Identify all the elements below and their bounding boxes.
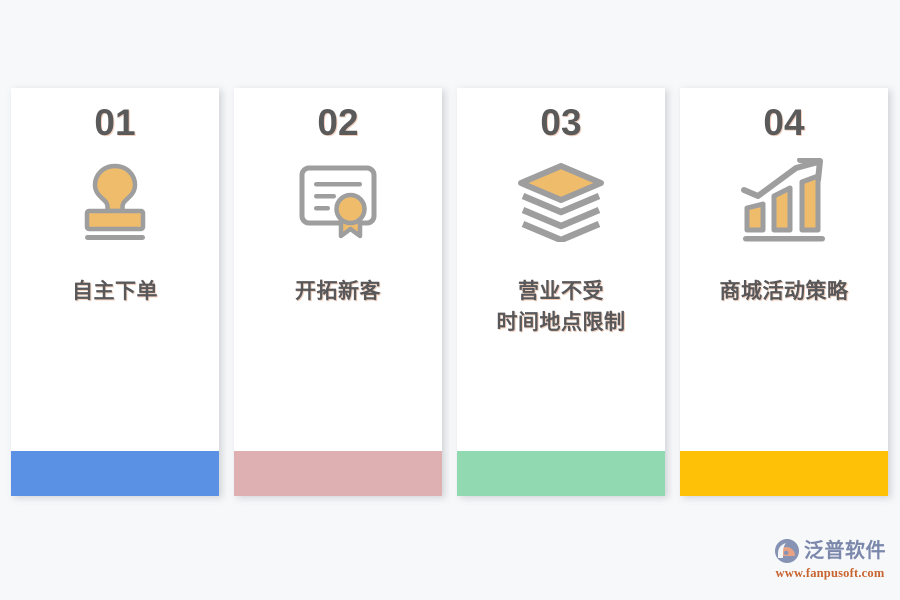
card-title-line-2: 时间地点限制 xyxy=(497,311,626,334)
card-title: 商城活动策略 xyxy=(720,276,849,307)
feature-card-03[interactable]: 03 营业不受时间地点限制 xyxy=(457,88,665,496)
poster-canvas: 01 自主下单 02 xyxy=(0,0,900,600)
layers-icon xyxy=(517,156,605,248)
feature-cards-row: 01 自主下单 02 xyxy=(0,88,900,496)
brand-url: www.fanpusoft.com xyxy=(776,567,885,580)
card-accent-bar xyxy=(680,451,888,496)
stamp-icon xyxy=(77,156,153,248)
card-number: 03 xyxy=(540,100,581,144)
card-title: 开拓新客 xyxy=(295,276,381,307)
card-title: 营业不受时间地点限制 xyxy=(497,276,626,338)
card-title-line-1: 营业不受 xyxy=(518,280,604,303)
brand-watermark: 泛普软件 www.fanpusoft.com xyxy=(768,533,892,585)
certificate-icon xyxy=(296,156,380,248)
card-title: 自主下单 xyxy=(72,276,158,307)
feature-card-01[interactable]: 01 自主下单 xyxy=(11,88,219,496)
card-number: 04 xyxy=(763,100,804,144)
brand-lockup: 泛普软件 xyxy=(774,538,886,564)
card-number: 02 xyxy=(317,100,358,144)
feature-card-04[interactable]: 04 商城活动策略 xyxy=(680,88,888,496)
card-accent-bar xyxy=(457,451,665,496)
card-accent-bar xyxy=(234,451,442,496)
brand-name: 泛普软件 xyxy=(804,541,886,561)
card-accent-bar xyxy=(11,451,219,496)
growth-chart-icon xyxy=(738,156,830,248)
feature-card-02[interactable]: 02 开拓新客 xyxy=(234,88,442,496)
card-number: 01 xyxy=(94,100,135,144)
fanpu-logo-icon xyxy=(774,538,800,564)
